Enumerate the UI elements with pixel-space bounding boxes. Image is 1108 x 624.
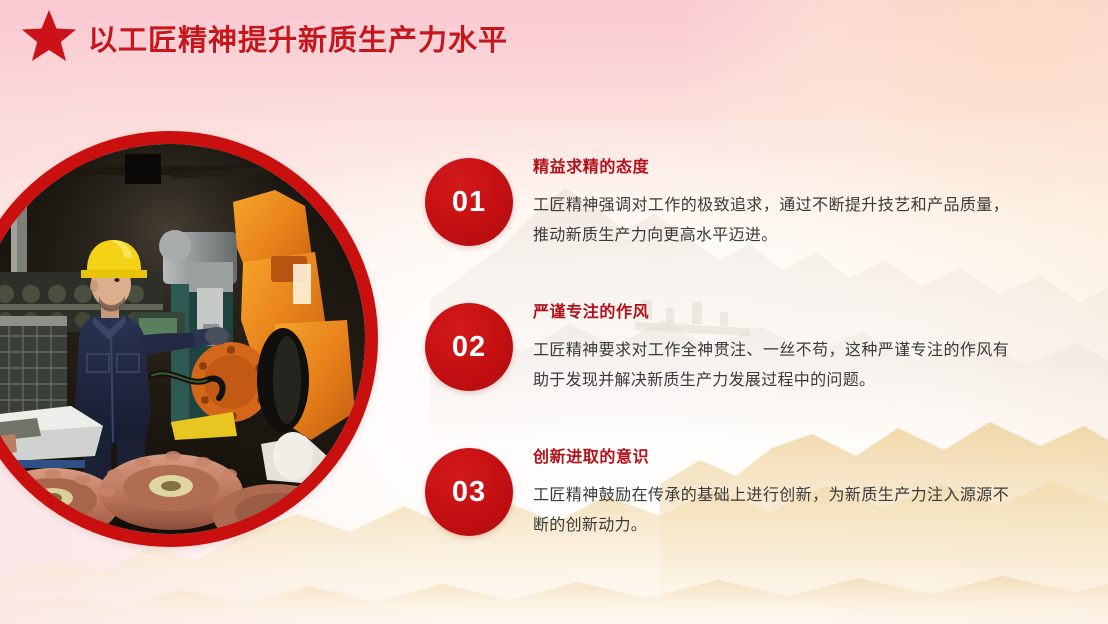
item-body: 工匠精神要求对工作全神贯注、一丝不苟，这种严谨专注的作风有助于发现并解决新质生产…	[533, 336, 1009, 395]
item-text-block: 严谨专注的作风 工匠精神要求对工作全神贯注、一丝不苟，这种严谨专注的作风有助于发…	[533, 303, 1009, 395]
item-text-block: 创新进取的意识 工匠精神鼓励在传承的基础上进行创新，为新质生产力注入源源不断的创…	[533, 448, 1009, 540]
item-number-badge: 03	[425, 448, 513, 536]
item-heading: 创新进取的意识	[533, 448, 1009, 467]
item-text-block: 精益求精的态度 工匠精神强调对工作的极致追求，通过不断提升技艺和产品质量，推动新…	[533, 158, 1009, 250]
list-item: 01 精益求精的态度 工匠精神强调对工作的极致追求，通过不断提升技艺和产品质量，…	[425, 158, 1025, 278]
item-number: 03	[452, 478, 486, 507]
item-number: 02	[452, 333, 486, 362]
item-heading: 严谨专注的作风	[533, 303, 1009, 322]
item-heading: 精益求精的态度	[533, 158, 1009, 177]
five-pointed-star-icon	[20, 8, 78, 64]
item-number-badge: 01	[425, 158, 513, 246]
item-number: 01	[452, 188, 486, 217]
feature-photo	[0, 144, 365, 534]
item-number-badge: 02	[425, 303, 513, 391]
item-body: 工匠精神强调对工作的极致追求，通过不断提升技艺和产品质量，推动新质生产力向更高水…	[533, 191, 1009, 250]
list-item: 02 严谨专注的作风 工匠精神要求对工作全神贯注、一丝不苟，这种严谨专注的作风有…	[425, 303, 1025, 423]
page-title: 以工匠精神提升新质生产力水平	[88, 17, 508, 59]
slide-canvas: 以工匠精神提升新质生产力水平	[0, 0, 1108, 624]
list-item: 03 创新进取的意识 工匠精神鼓励在传承的基础上进行创新，为新质生产力注入源源不…	[425, 448, 1025, 568]
item-body: 工匠精神鼓励在传承的基础上进行创新，为新质生产力注入源源不断的创新动力。	[533, 481, 1009, 540]
